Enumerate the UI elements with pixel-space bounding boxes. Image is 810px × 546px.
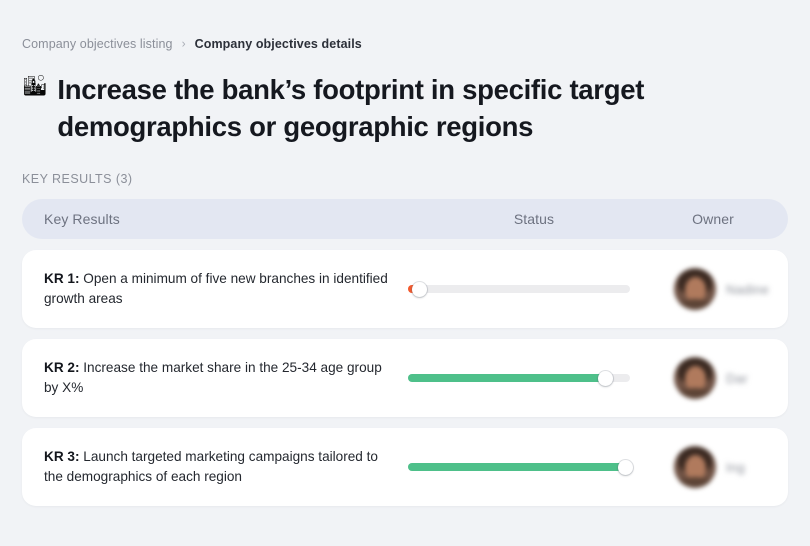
key-result-description: Launch targeted marketing campaigns tail… [44,449,378,485]
cityscape-buildings-icon: 🏙 [22,72,47,100]
objective-details-page: Company objectives listing › Company obj… [0,0,810,546]
table-row[interactable]: KR 3: Launch targeted marketing campaign… [22,428,788,506]
progress-knob[interactable] [618,460,633,475]
table-header-row: Key Results Status Owner [22,199,788,239]
owner-cell[interactable]: Dar [660,357,766,399]
progress-knob[interactable] [412,282,427,297]
progress-slider[interactable] [408,463,630,471]
key-result-cell: KR 2: Increase the market share in the 2… [44,358,408,399]
progress-slider[interactable] [408,374,630,382]
chevron-right-icon: › [182,38,186,50]
owner-name: Dar [726,371,748,386]
column-header-key-results: Key Results [44,211,408,227]
key-result-description: Increase the market share in the 25-34 a… [44,360,382,396]
status-cell [408,285,660,293]
avatar [674,268,716,310]
progress-fill [408,463,626,471]
breadcrumb: Company objectives listing › Company obj… [22,0,788,51]
owner-name: Nadine [726,282,769,297]
key-results-table: Key Results Status Owner KR 1: Open a mi… [22,199,788,506]
key-result-text: KR 2: Increase the market share in the 2… [44,358,408,399]
table-row[interactable]: KR 2: Increase the market share in the 2… [22,339,788,417]
table-row[interactable]: KR 1: Open a minimum of five new branche… [22,250,788,328]
progress-knob[interactable] [598,371,613,386]
key-result-label: KR 1: [44,271,80,286]
progress-slider[interactable] [408,285,630,293]
key-result-text: KR 1: Open a minimum of five new branche… [44,269,408,310]
key-result-description: Open a minimum of five new branches in i… [44,271,388,307]
status-cell [408,374,660,382]
key-result-label: KR 2: [44,360,80,375]
breadcrumb-parent-link[interactable]: Company objectives listing [22,38,173,51]
key-result-text: KR 3: Launch targeted marketing campaign… [44,447,408,488]
owner-cell[interactable]: Ing [660,446,766,488]
status-cell [408,463,660,471]
key-result-cell: KR 1: Open a minimum of five new branche… [44,269,408,310]
column-header-status: Status [408,211,660,227]
objective-title: Increase the bank’s footprint in specifi… [57,71,668,147]
avatar [674,446,716,488]
breadcrumb-current: Company objectives details [195,38,362,51]
avatar [674,357,716,399]
progress-fill [408,374,606,382]
key-result-cell: KR 3: Launch targeted marketing campaign… [44,447,408,488]
page-title: 🏙 Increase the bank’s footprint in speci… [22,71,788,147]
owner-cell[interactable]: Nadine [660,268,769,310]
column-header-owner: Owner [660,211,766,227]
owner-name: Ing [726,460,745,475]
key-results-section-label: KEY RESULTS (3) [22,172,788,186]
key-result-label: KR 3: [44,449,80,464]
